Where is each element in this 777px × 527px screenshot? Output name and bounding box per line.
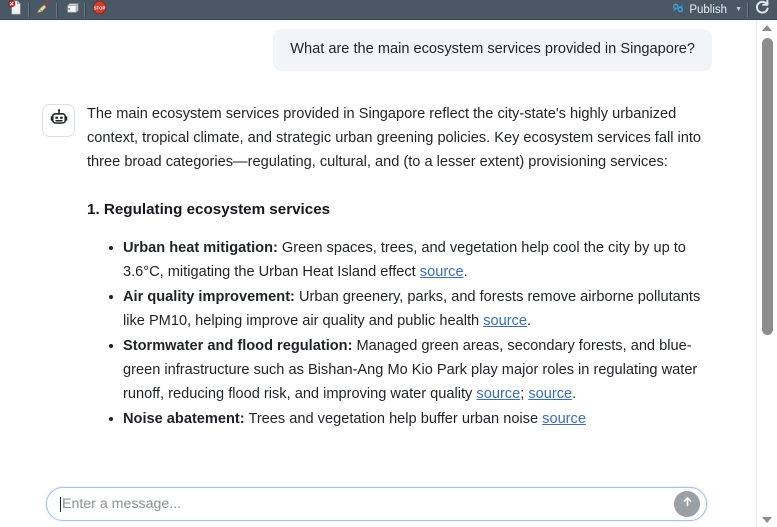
send-button[interactable] [674,491,700,517]
robot-icon [49,108,69,133]
arrow-up-icon [680,494,695,514]
stop-button[interactable]: STOP [88,1,110,19]
text-cursor [60,497,61,512]
assistant-message-row: The main ecosystem services provided in … [0,71,756,432]
avatar [42,104,75,137]
publish-label: Publish [689,4,727,16]
bullet-term: Stormwater and flood regulation: [123,338,352,354]
toolbar-separator [84,3,86,17]
source-link[interactable]: source [420,264,464,280]
list-item: Stormwater and flood regulation: Managed… [87,334,712,406]
svg-text:STOP: STOP [93,5,105,10]
message-input[interactable]: Enter a message... [62,497,674,511]
bullet-text: Trees and vegetation help buffer urban n… [245,411,543,427]
list-item: Urban heat mitigation: Green spaces, tre… [87,236,712,284]
bullet-term: Urban heat mitigation: [123,240,278,256]
top-toolbar: STOP Publish ▼ [0,0,777,20]
delete-page-icon [8,0,23,20]
bullet-term: Air quality improvement: [123,289,295,305]
stop-icon: STOP [92,0,107,20]
source-link[interactable]: source [476,386,520,402]
toolbar-separator [28,3,30,17]
bullet-text-after: . [527,313,531,329]
reload-button[interactable] [751,1,773,19]
regulating-services-list: Urban heat mitigation: Green spaces, tre… [87,236,712,431]
toolbar-separator [747,3,749,17]
toolbar-separator [56,3,58,17]
assistant-message-body: The main ecosystem services provided in … [87,102,712,432]
chevron-down-icon [762,517,772,523]
list-item: Air quality improvement: Urban greenery,… [87,285,712,333]
chat-application-window: STOP Publish ▼ [0,0,777,527]
scroll-up-button[interactable] [757,20,777,35]
source-link[interactable]: source [542,411,586,427]
toolbar-left-group: STOP [4,1,110,19]
source-link[interactable]: source [528,386,572,402]
section-heading: 1. Regulating ecosystem services [87,198,712,222]
publish-button[interactable]: Publish ▼ [669,1,745,19]
bullet-term: Noise abatement: [123,411,245,427]
user-message-bubble: What are the main ecosystem services pro… [273,29,712,71]
bullet-text-after: . [572,386,576,402]
source-link[interactable]: source [483,313,527,329]
message-composer[interactable]: Enter a message... [46,487,707,521]
list-item: Noise abatement: Trees and vegetation he… [87,407,712,431]
publish-icon [671,1,685,18]
scroll-down-button[interactable] [757,512,777,527]
delete-page-button[interactable] [4,1,26,19]
copy-icon [64,0,79,20]
chat-scroll-area[interactable]: What are the main ecosystem services pro… [0,20,756,527]
chat-message-list: What are the main ecosystem services pro… [0,20,756,432]
assistant-intro-paragraph: The main ecosystem services provided in … [87,102,712,174]
toolbar-right-group: Publish ▼ [669,1,773,19]
chevron-up-icon [762,25,772,31]
reload-icon [754,0,770,20]
bullet-text-after: . [464,264,468,280]
clear-button[interactable] [32,1,54,19]
clear-icon [36,0,51,20]
copy-button[interactable] [60,1,82,19]
vertical-scrollbar[interactable] [756,20,777,527]
user-message-row: What are the main ecosystem services pro… [0,29,756,71]
scrollbar-thumb[interactable] [762,38,773,335]
chevron-down-icon[interactable]: ▼ [735,6,742,13]
